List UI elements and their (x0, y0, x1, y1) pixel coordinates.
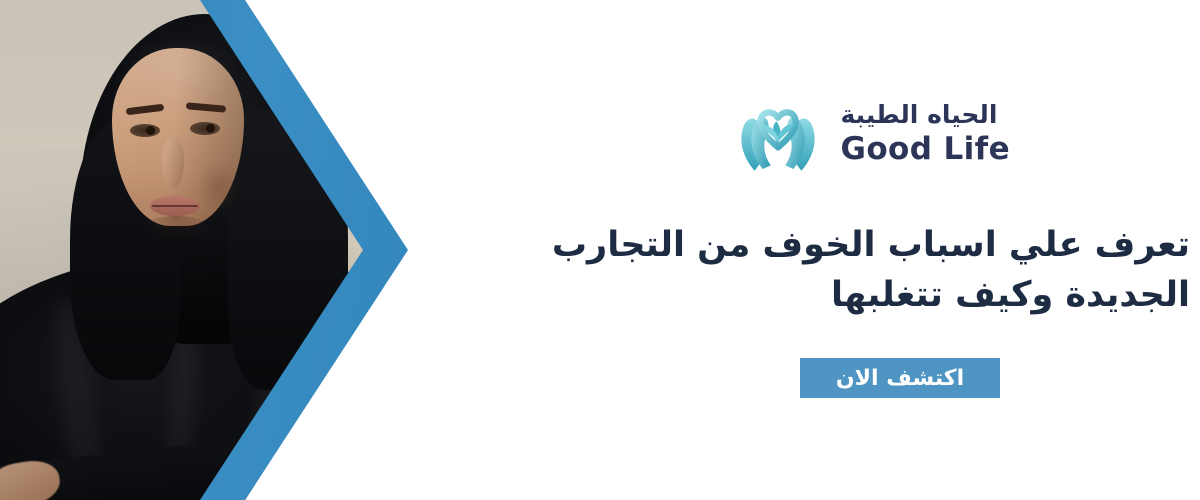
promo-banner: الحياه الطيبة Good Life تعرف علي اسباب ا… (0, 0, 1200, 500)
headline: تعرف علي اسباب الخوف من التجارب الجديدة … (550, 221, 1190, 320)
discover-now-button[interactable]: اكتشف الان (800, 358, 1000, 398)
headline-line-2: الجديدة وكيف تتغلبها (831, 275, 1190, 315)
media-stage (0, 0, 470, 500)
content-panel: الحياه الطيبة Good Life تعرف علي اسباب ا… (470, 0, 1200, 500)
brand-name-ar: الحياه الطيبة (840, 102, 997, 127)
headline-line-1: تعرف علي اسباب الخوف من التجارب (552, 225, 1190, 265)
hands-heart-leaf-icon (732, 88, 824, 178)
brand-logo[interactable]: الحياه الطيبة Good Life (732, 88, 1010, 178)
brand-name-en: Good Life (840, 134, 1010, 165)
brand-wordmark: الحياه الطيبة Good Life (840, 102, 1010, 165)
